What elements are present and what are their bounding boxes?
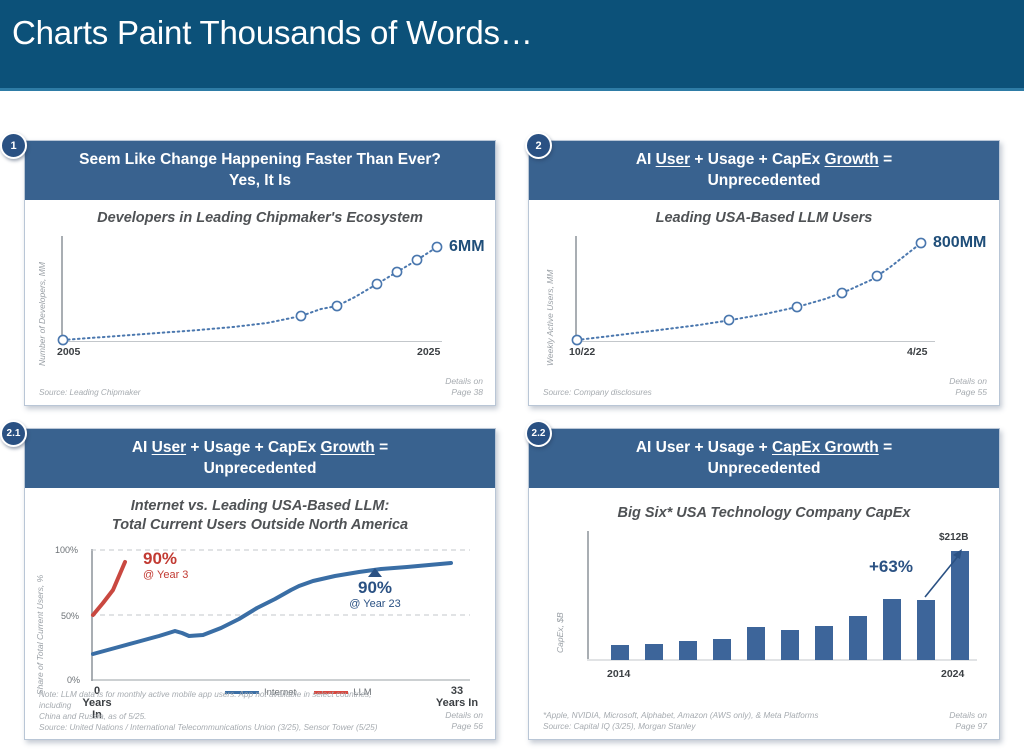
panel-21-annotation-llm: 90% @ Year 3	[143, 549, 188, 581]
panel-22-heading-a: AI User + Usage +	[636, 439, 772, 456]
panel-internet-vs-llm[interactable]: AI User + Usage + CapEx Growth = Unprece…	[24, 428, 496, 740]
panel-21-heading-b: + Usage + CapEx	[186, 439, 320, 456]
panel-22-chart: CapEx, $B	[529, 523, 999, 703]
panel-2-line-series	[529, 228, 1001, 398]
slide-header: Charts Paint Thousands of Words…	[0, 0, 1024, 88]
panel-22-heading-c: =	[879, 439, 892, 456]
panel-21-chart-title: Internet vs. Leading USA-Based LLM: Tota…	[25, 497, 495, 535]
panel-21-heading-c: =	[375, 439, 388, 456]
panel-1-x-tick-end: 2025	[417, 346, 440, 358]
panel-2-endpoint-label: 800MM	[933, 234, 986, 252]
panel-2-heading-c: =	[879, 151, 892, 168]
panel-badge-2-1: 2.1	[0, 420, 27, 447]
panel-21-x-tick-end: 33 Years In	[429, 685, 485, 709]
panel-22-details-line1: Details on	[949, 710, 987, 720]
panel-1-details-line2: Page 38	[451, 387, 483, 397]
panel-21-note-line3: Source: United Nations / International T…	[39, 723, 377, 732]
panel-2-chart-title: Leading USA-Based LLM Users	[529, 209, 999, 228]
panel-1-chart: Number of Developers, MM 6MM 2005 2025	[25, 228, 495, 398]
panel-1-details-line1: Details on	[445, 376, 483, 386]
panel-badge-2: 2	[525, 132, 552, 159]
panel-22-details-line2: Page 97	[955, 721, 987, 731]
panel-1-source: Source: Leading Chipmaker	[39, 387, 141, 398]
panel-22-chart-title: Big Six* USA Technology Company CapEx	[529, 504, 999, 523]
panel-2-source: Source: Company disclosures	[543, 387, 652, 398]
panel-2-heading: AI User + Usage + CapEx Growth = Unprece…	[529, 141, 999, 200]
panel-1-endpoint-label: 6MM	[449, 238, 485, 256]
slide: Charts Paint Thousands of Words… 1 Seem …	[0, 0, 1024, 750]
panel-2-x-tick-end: 4/25	[907, 346, 927, 358]
panel-21-annotation-llm-sub: @ Year 3	[143, 569, 188, 581]
panel-2-heading-b: + Usage + CapEx	[690, 151, 824, 168]
panel-22-heading-u1: CapEx Growth	[772, 439, 879, 456]
triangle-up-icon	[368, 568, 382, 577]
panel-21-annotation-internet-sub: @ Year 23	[335, 598, 415, 610]
panel-21-heading-a: AI	[132, 439, 152, 456]
panel-22-x-tick-end: 2024	[941, 668, 964, 680]
panel-llm-users[interactable]: AI User + Usage + CapEx Growth = Unprece…	[528, 140, 1000, 406]
panel-2-chart: Weekly Active Users, MM 800MM 10/22 4/25	[529, 228, 999, 398]
panel-22-x-tick-start: 2014	[607, 668, 630, 680]
panel-21-x-end-unit: Years In	[429, 697, 485, 709]
panel-21-heading-u1: User	[152, 439, 186, 456]
panel-21-chart: Share of Total Current Users, % 100% 50%…	[25, 535, 495, 715]
panel-21-chart-title-line1: Internet vs. Leading USA-Based LLM:	[131, 498, 390, 514]
panel-22-growth-label: +63%	[869, 557, 913, 577]
panel-1-heading: Seem Like Change Happening Faster Than E…	[25, 141, 495, 200]
panel-1-chart-title: Developers in Leading Chipmaker's Ecosys…	[25, 209, 495, 228]
panel-2-heading-line2: Unprecedented	[708, 172, 821, 189]
panel-21-details: Details on Page 56	[445, 710, 483, 732]
panel-2-x-tick-start: 10/22	[569, 346, 595, 358]
panel-badge-2-2: 2.2	[525, 420, 552, 447]
panel-1-heading-line1: Seem Like Change Happening Faster Than E…	[79, 151, 441, 168]
panel-21-x-end-value: 33	[429, 685, 485, 697]
header-divider	[0, 88, 1024, 91]
panel-21-details-line2: Page 56	[451, 721, 483, 731]
panel-seem-like-change[interactable]: Seem Like Change Happening Faster Than E…	[24, 140, 496, 406]
panel-22-note-line2: Source: Capital IQ (3/25), Morgan Stanle…	[543, 722, 695, 731]
panel-2-heading-u1: User	[656, 151, 690, 168]
panel-2-heading-a: AI	[636, 151, 656, 168]
panel-22-note-line1: *Apple, NVIDIA, Microsoft, Alphabet, Ama…	[543, 711, 818, 720]
panel-2-details-line1: Details on	[949, 376, 987, 386]
panel-21-annotation-internet-value: 90%	[335, 578, 415, 598]
panel-1-x-tick-start: 2005	[57, 346, 80, 358]
panel-22-heading-line2: Unprecedented	[708, 460, 821, 477]
panel-21-note: Note: LLM data is for monthly active mob…	[39, 689, 399, 733]
panel-22-heading: AI User + Usage + CapEx Growth = Unprece…	[529, 429, 999, 488]
panel-2-heading-u2: Growth	[825, 151, 879, 168]
panel-21-note-line1: Note: LLM data is for monthly active mob…	[39, 690, 371, 710]
panel-21-annotation-internet: 90% @ Year 23	[335, 568, 415, 610]
panel-21-details-line1: Details on	[445, 710, 483, 720]
page-title: Charts Paint Thousands of Words…	[12, 14, 533, 52]
panel-22-details: Details on Page 97	[949, 710, 987, 732]
panel-21-chart-title-line2: Total Current Users Outside North Americ…	[112, 517, 408, 533]
panel-22-note: *Apple, NVIDIA, Microsoft, Alphabet, Ama…	[543, 710, 818, 732]
panel-big-six-capex[interactable]: AI User + Usage + CapEx Growth = Unprece…	[528, 428, 1000, 740]
panel-21-note-line2: China and Russia, as of 5/25.	[39, 712, 146, 721]
panel-2-details-line2: Page 55	[955, 387, 987, 397]
panel-21-annotation-llm-value: 90%	[143, 549, 188, 569]
panel-badge-1: 1	[0, 132, 27, 159]
panel-1-heading-line2: Yes, It Is	[229, 172, 291, 189]
panel-22-top-label: $212B	[939, 532, 968, 543]
panel-1-line-series	[25, 228, 497, 398]
panel-1-details: Details on Page 38	[445, 376, 483, 398]
panel-2-details: Details on Page 55	[949, 376, 987, 398]
panel-21-heading-u2: Growth	[321, 439, 375, 456]
panel-21-heading-line2: Unprecedented	[204, 460, 317, 477]
panel-21-heading: AI User + Usage + CapEx Growth = Unprece…	[25, 429, 495, 488]
panel-22-bar-series	[529, 523, 1001, 703]
